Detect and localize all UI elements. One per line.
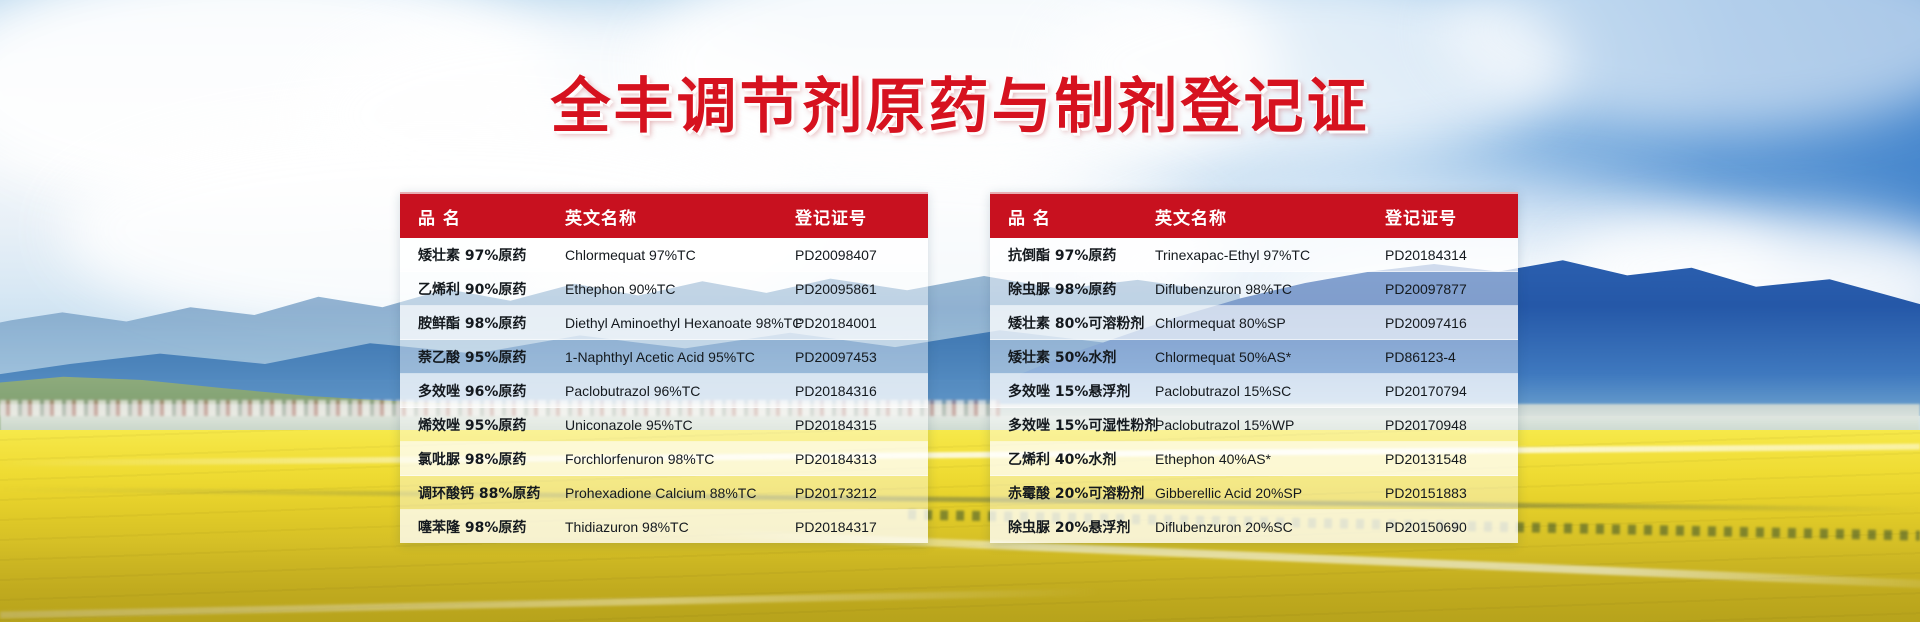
table-row: 烯效唑 95%原药Uniconazole 95%TCPD20184315	[400, 408, 928, 442]
cell-english-name: Diethyl Aminoethyl Hexanoate 98%TC	[565, 315, 795, 331]
cell-english-name: Ethephon 40%AS*	[1155, 451, 1385, 467]
table-row: 抗倒酯 97%原药Trinexapac-Ethyl 97%TCPD2018431…	[990, 238, 1518, 272]
table-row: 除虫脲 20%悬浮剂Diflubenzuron 20%SCPD20150690	[990, 510, 1518, 543]
cell-english-name: Chlormequat 50%AS*	[1155, 349, 1385, 365]
table-row: 除虫脲 98%原药Diflubenzuron 98%TCPD20097877	[990, 272, 1518, 306]
table-row: 多效唑 15%悬浮剂Paclobutrazol 15%SCPD20170794	[990, 374, 1518, 408]
cell-registration-no: PD20097453	[795, 349, 928, 365]
cell-english-name: Paclobutrazol 15%SC	[1155, 383, 1385, 399]
cell-registration-no: PD20097416	[1385, 315, 1518, 331]
column-header-product-name: 品 名	[990, 204, 1155, 229]
cell-registration-no: PD20184314	[1385, 247, 1518, 263]
cell-registration-no: PD20184313	[795, 451, 928, 467]
cell-english-name: Forchlorfenuron 98%TC	[565, 451, 795, 467]
cell-english-name: Chlormequat 80%SP	[1155, 315, 1385, 331]
table-body-left: 矮壮素 97%原药Chlormequat 97%TCPD20098407乙烯利 …	[400, 238, 928, 543]
cell-registration-no: PD20184316	[795, 383, 928, 399]
table-row: 矮壮素 97%原药Chlormequat 97%TCPD20098407	[400, 238, 928, 272]
table-row: 调环酸钙 88%原药Prohexadione Calcium 88%TCPD20…	[400, 476, 928, 510]
cell-product-name: 矮壮素 50%水剂	[990, 347, 1155, 367]
table-row: 萘乙酸 95%原药1-Naphthyl Acetic Acid 95%TCPD2…	[400, 340, 928, 374]
registration-table-right: 品 名 英文名称 登记证号 抗倒酯 97%原药Trinexapac-Ethyl …	[990, 192, 1518, 543]
cell-english-name: Gibberellic Acid 20%SP	[1155, 485, 1385, 501]
cell-english-name: Chlormequat 97%TC	[565, 247, 795, 263]
cell-product-name: 噻苯隆 98%原药	[400, 517, 565, 537]
table-row: 多效唑 96%原药Paclobutrazol 96%TCPD20184316	[400, 374, 928, 408]
cell-english-name: Diflubenzuron 98%TC	[1155, 281, 1385, 297]
cell-product-name: 乙烯利 40%水剂	[990, 449, 1155, 469]
cell-product-name: 萘乙酸 95%原药	[400, 347, 565, 367]
cell-registration-no: PD20184317	[795, 519, 928, 535]
cell-product-name: 调环酸钙 88%原药	[400, 483, 565, 503]
cell-registration-no: PD20098407	[795, 247, 928, 263]
cell-english-name: Trinexapac-Ethyl 97%TC	[1155, 247, 1385, 263]
cell-registration-no: PD86123-4	[1385, 349, 1518, 365]
table-header-row: 品 名 英文名称 登记证号	[400, 192, 928, 238]
cell-product-name: 乙烯利 90%原药	[400, 279, 565, 299]
cell-english-name: Paclobutrazol 15%WP	[1155, 417, 1385, 433]
cell-product-name: 矮壮素 97%原药	[400, 245, 565, 265]
cell-product-name: 多效唑 15%可湿性粉剂	[990, 415, 1155, 435]
cell-english-name: Ethephon 90%TC	[565, 281, 795, 297]
cell-english-name: Prohexadione Calcium 88%TC	[565, 485, 795, 501]
table-row: 乙烯利 40%水剂Ethephon 40%AS*PD20131548	[990, 442, 1518, 476]
cell-registration-no: PD20095861	[795, 281, 928, 297]
cell-product-name: 除虫脲 20%悬浮剂	[990, 517, 1155, 537]
table-row: 矮壮素 50%水剂Chlormequat 50%AS*PD86123-4	[990, 340, 1518, 374]
cell-registration-no: PD20173212	[795, 485, 928, 501]
cell-product-name: 赤霉酸 20%可溶粉剂	[990, 483, 1155, 503]
cell-registration-no: PD20150690	[1385, 519, 1518, 535]
background-landscape-photo	[0, 0, 1920, 622]
column-header-registration: 登记证号	[795, 204, 928, 229]
cell-registration-no: PD20131548	[1385, 451, 1518, 467]
table-row: 多效唑 15%可湿性粉剂Paclobutrazol 15%WPPD2017094…	[990, 408, 1518, 442]
cell-english-name: Diflubenzuron 20%SC	[1155, 519, 1385, 535]
column-header-english-name: 英文名称	[565, 204, 795, 229]
table-header-row: 品 名 英文名称 登记证号	[990, 192, 1518, 238]
cell-english-name: Thidiazuron 98%TC	[565, 519, 795, 535]
table-row: 胺鲜酯 98%原药Diethyl Aminoethyl Hexanoate 98…	[400, 306, 928, 340]
table-row: 噻苯隆 98%原药Thidiazuron 98%TCPD20184317	[400, 510, 928, 543]
column-header-english-name: 英文名称	[1155, 204, 1385, 229]
cell-product-name: 胺鲜酯 98%原药	[400, 313, 565, 333]
table-row: 矮壮素 80%可溶粉剂Chlormequat 80%SPPD20097416	[990, 306, 1518, 340]
banner-stage: 全丰调节剂原药与制剂登记证 品 名 英文名称 登记证号 矮壮素 97%原药Chl…	[0, 0, 1920, 622]
cell-registration-no: PD20097877	[1385, 281, 1518, 297]
cell-english-name: Paclobutrazol 96%TC	[565, 383, 795, 399]
cell-product-name: 矮壮素 80%可溶粉剂	[990, 313, 1155, 333]
cell-registration-no: PD20151883	[1385, 485, 1518, 501]
cell-product-name: 除虫脲 98%原药	[990, 279, 1155, 299]
table-row: 乙烯利 90%原药Ethephon 90%TCPD20095861	[400, 272, 928, 306]
table-row: 氯吡脲 98%原药Forchlorfenuron 98%TCPD20184313	[400, 442, 928, 476]
column-header-product-name: 品 名	[400, 204, 565, 229]
cell-registration-no: PD20170794	[1385, 383, 1518, 399]
cell-english-name: Uniconazole 95%TC	[565, 417, 795, 433]
cell-english-name: 1-Naphthyl Acetic Acid 95%TC	[565, 349, 795, 365]
cell-product-name: 抗倒酯 97%原药	[990, 245, 1155, 265]
cell-product-name: 烯效唑 95%原药	[400, 415, 565, 435]
registration-table-left: 品 名 英文名称 登记证号 矮壮素 97%原药Chlormequat 97%TC…	[400, 192, 928, 543]
cell-registration-no: PD20184001	[795, 315, 928, 331]
column-header-registration: 登记证号	[1385, 204, 1518, 229]
cell-product-name: 氯吡脲 98%原药	[400, 449, 565, 469]
table-body-right: 抗倒酯 97%原药Trinexapac-Ethyl 97%TCPD2018431…	[990, 238, 1518, 543]
table-row: 赤霉酸 20%可溶粉剂Gibberellic Acid 20%SPPD20151…	[990, 476, 1518, 510]
cell-product-name: 多效唑 15%悬浮剂	[990, 381, 1155, 401]
cell-registration-no: PD20184315	[795, 417, 928, 433]
cell-product-name: 多效唑 96%原药	[400, 381, 565, 401]
cell-registration-no: PD20170948	[1385, 417, 1518, 433]
